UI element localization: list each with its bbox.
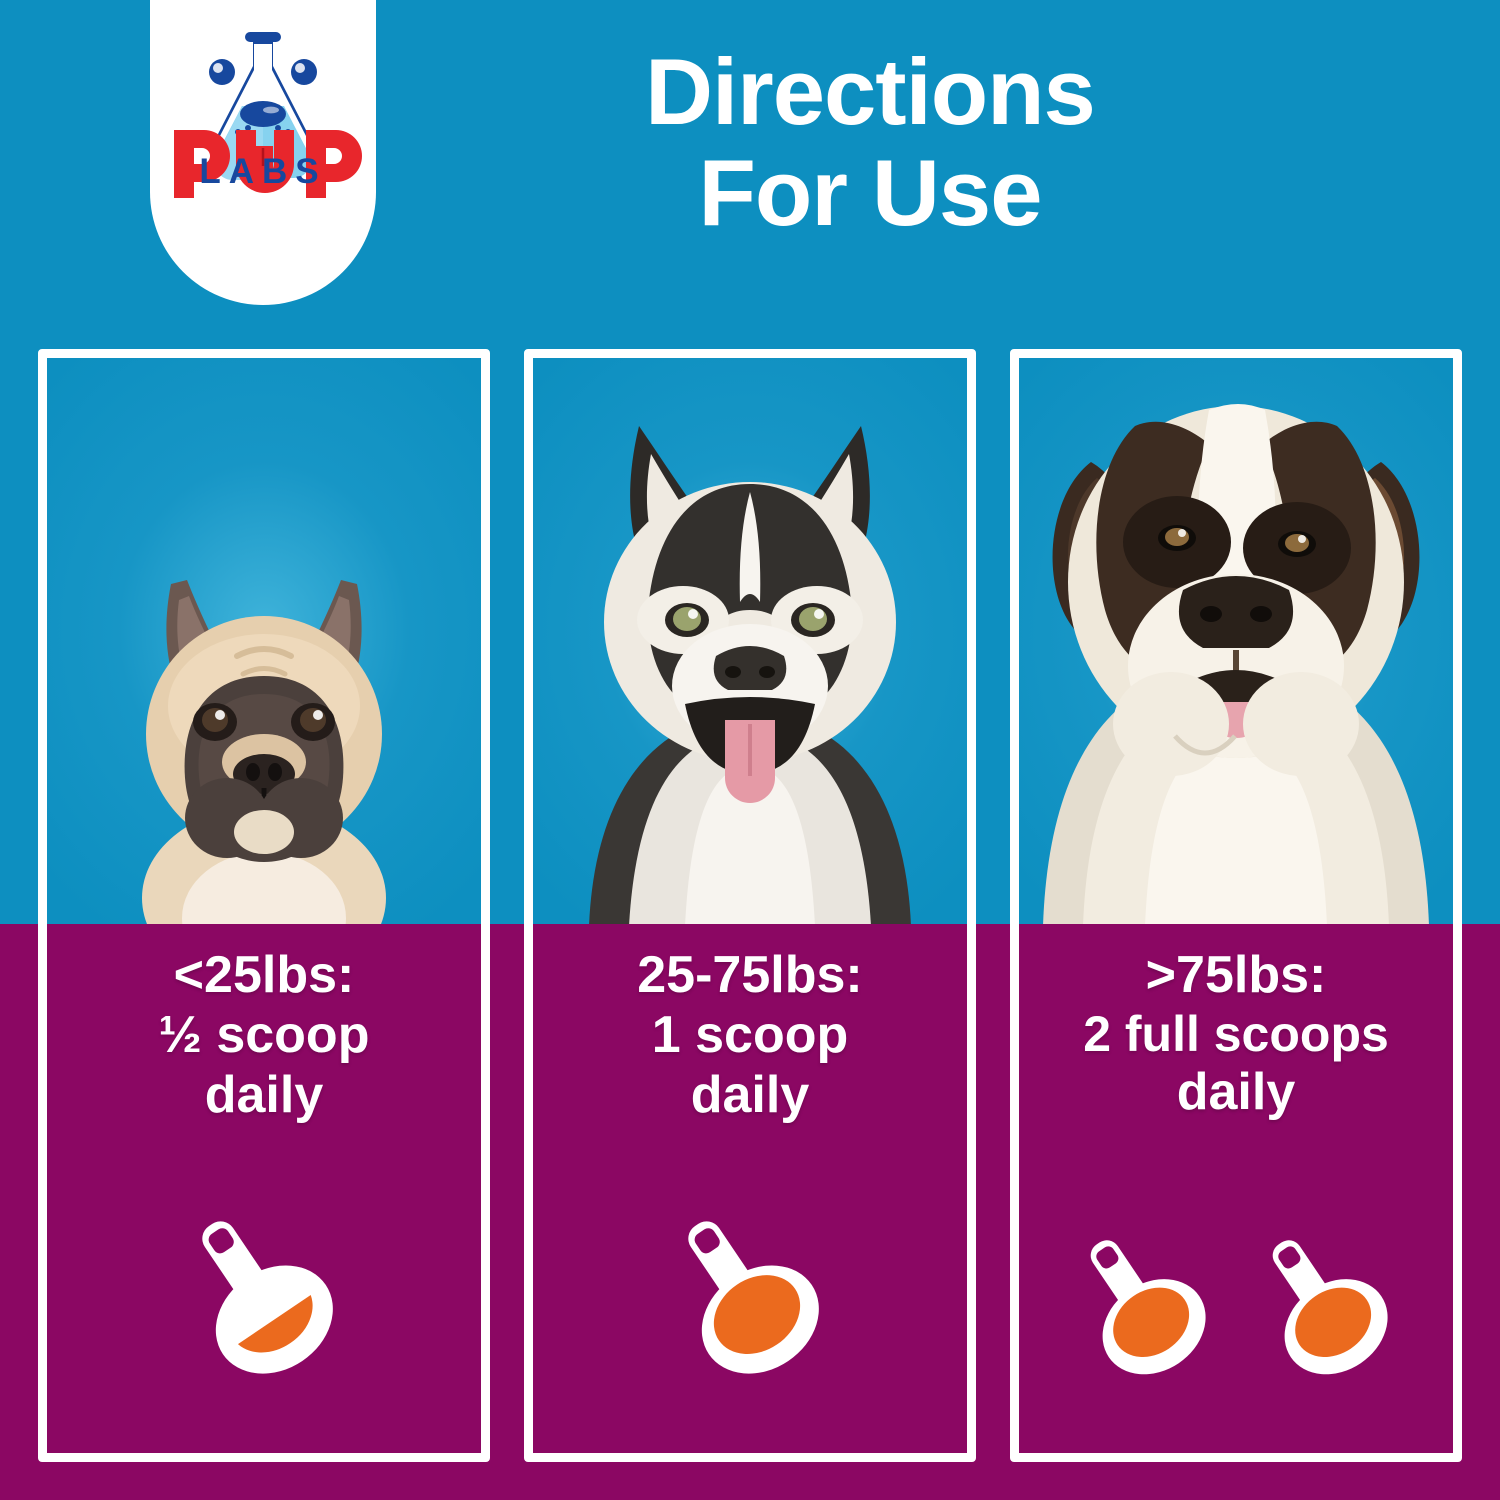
dosage-text-large: >75lbs: 2 full scoops daily	[1019, 946, 1453, 1123]
dose-line2-large: daily	[1025, 1063, 1447, 1123]
brand-logo-badge: LABS	[150, 0, 376, 305]
measuring-scoop-icon	[1057, 1231, 1233, 1381]
dose-line1-medium: 1 scoop	[539, 1006, 961, 1066]
dosage-panel-large-dog[interactable]: >75lbs: 2 full scoops daily	[1010, 349, 1462, 1462]
dosage-text-small: <25lbs: ½ scoop daily	[47, 946, 481, 1125]
french-bulldog-photo	[47, 358, 481, 924]
measuring-scoop-icon	[650, 1211, 850, 1381]
dosage-text-medium: 25-75lbs: 1 scoop daily	[533, 946, 967, 1125]
page-title-line-1: Directions	[420, 42, 1320, 143]
siberian-husky-photo	[533, 358, 967, 924]
dose-line2-small: daily	[53, 1066, 475, 1126]
dosage-caption-large: >75lbs: 2 full scoops daily	[1019, 924, 1453, 1453]
dose-line2-medium: daily	[539, 1066, 961, 1126]
scoop-group-small	[47, 1211, 481, 1381]
dosage-panel-medium-dog[interactable]: 25-75lbs: 1 scoop daily	[524, 349, 976, 1462]
page-title-line-2: For Use	[420, 143, 1320, 244]
header: LABS Directions For Use	[0, 0, 1500, 349]
weight-label-large: >75lbs:	[1025, 946, 1447, 1006]
dosage-panels: <25lbs: ½ scoop daily	[0, 349, 1500, 1462]
saint-bernard-photo	[1019, 358, 1453, 924]
scoop-group-large	[1019, 1231, 1453, 1381]
weight-label-small: <25lbs:	[53, 946, 475, 1006]
dose-line1-large: 2 full scoops	[1025, 1006, 1447, 1064]
dose-line1-small: ½ scoop	[53, 1006, 475, 1066]
weight-label-medium: 25-75lbs:	[539, 946, 961, 1006]
dosage-caption-small: <25lbs: ½ scoop daily	[47, 924, 481, 1453]
measuring-scoop-icon	[164, 1211, 364, 1381]
scoop-group-medium	[533, 1211, 967, 1381]
page-title: Directions For Use	[420, 42, 1320, 243]
brand-sub-label: LABS	[150, 152, 376, 192]
dosage-caption-medium: 25-75lbs: 1 scoop daily	[533, 924, 967, 1453]
dosage-panel-small-dog[interactable]: <25lbs: ½ scoop daily	[38, 349, 490, 1462]
measuring-scoop-icon	[1239, 1231, 1415, 1381]
